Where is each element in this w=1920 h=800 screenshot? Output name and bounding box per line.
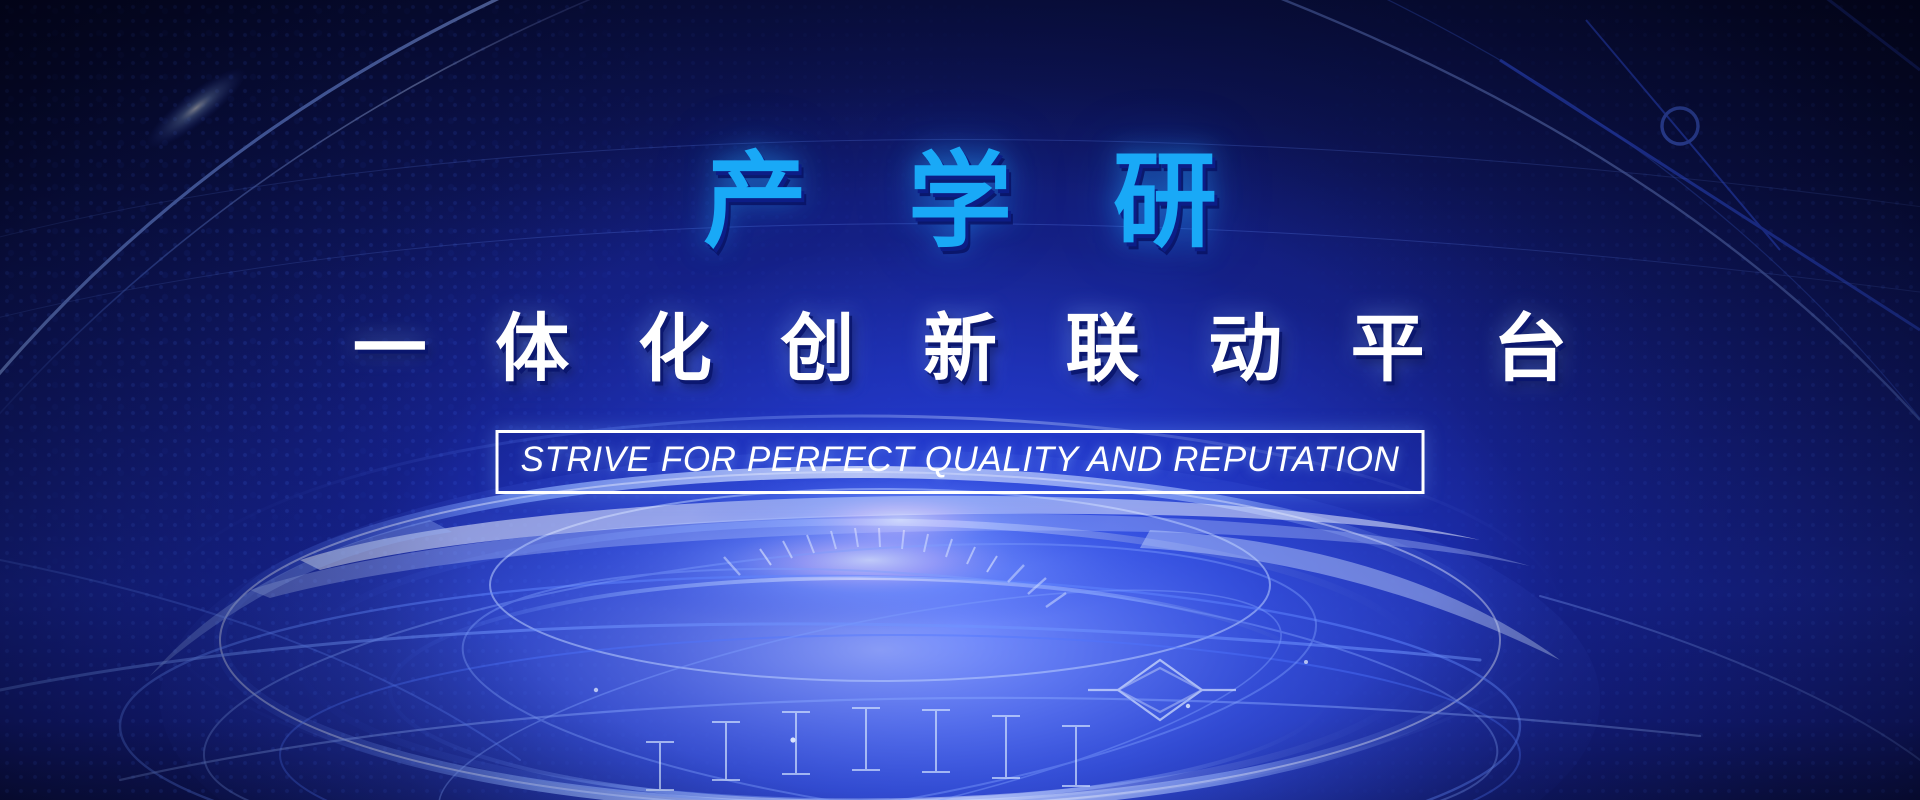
banner-title-secondary: 一 体 化 创 新 联 动 平 台 [0, 312, 1920, 386]
banner-subtitle: STRIVE FOR PERFECT QUALITY AND REPUTATIO… [521, 440, 1400, 480]
banner-root: 产 学 研 一 体 化 创 新 联 动 平 台 STRIVE FOR PERFE… [0, 0, 1920, 800]
banner-title-primary: 产 学 研 [0, 150, 1920, 254]
banner-subtitle-box: STRIVE FOR PERFECT QUALITY AND REPUTATIO… [496, 430, 1425, 494]
vignette-overlay [0, 0, 1920, 800]
